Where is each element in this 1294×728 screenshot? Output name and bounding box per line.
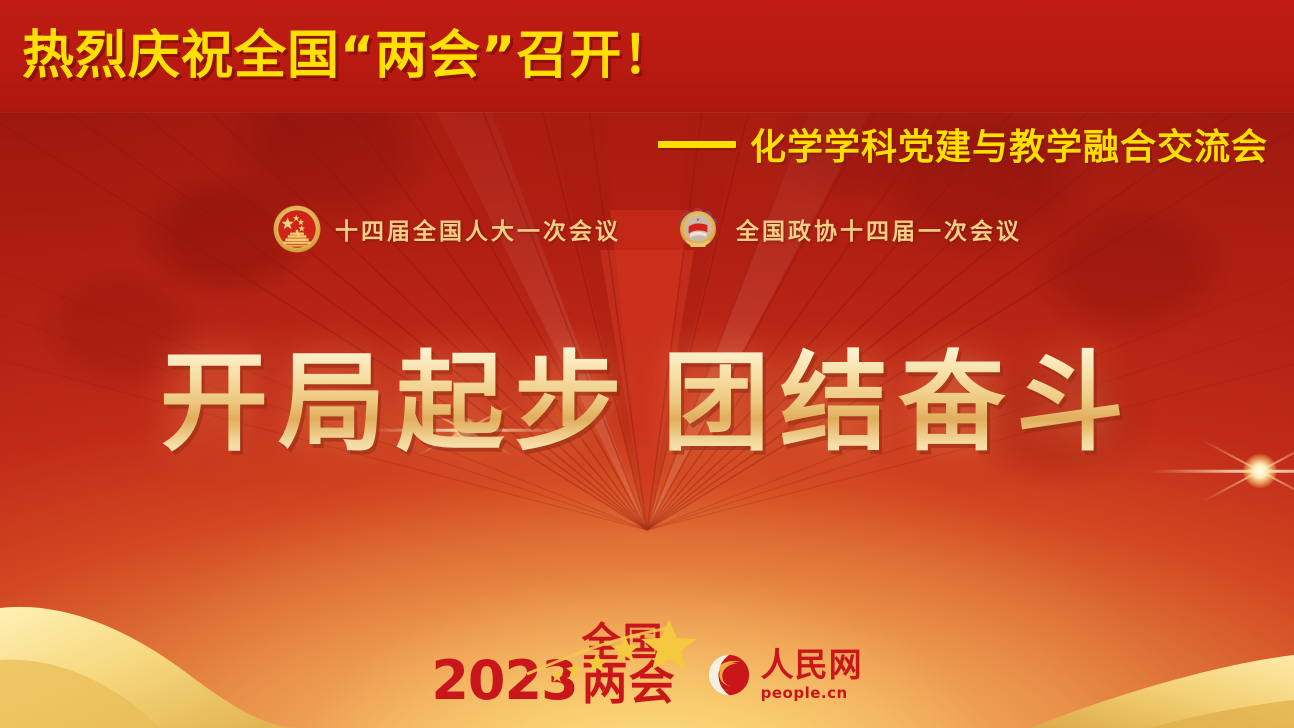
emblem-label-cppcc: 全国政协十四届一次会议 bbox=[736, 212, 1022, 246]
emblem-item-cppcc: ★ 全国政协十四届一次会议 bbox=[673, 204, 1022, 254]
subtitle-dash-icon bbox=[658, 141, 736, 148]
top-banner: 热烈庆祝全国“两会”召开！ bbox=[0, 0, 1294, 112]
logo-chinese: 全国 两会 bbox=[582, 624, 676, 706]
page-title: 热烈庆祝全国“两会”召开！ bbox=[22, 30, 675, 82]
people-cn-mark-icon bbox=[706, 652, 752, 698]
people-cn-text: 人民网 bbox=[761, 648, 863, 681]
people-cn-domain: people.cn bbox=[761, 684, 848, 702]
emblem-row: 十四届全国人大一次会议 bbox=[0, 204, 1294, 254]
slogan-right: 团结奋斗 bbox=[662, 341, 1134, 466]
logo-cn-bottom: 两会 bbox=[582, 662, 676, 706]
slogan-left: 开局起步 bbox=[160, 341, 632, 466]
main-slogan: 开局起步团结奋斗 bbox=[0, 344, 1294, 465]
emblem-label-npc: 十四届全国人大一次会议 bbox=[335, 212, 621, 246]
cppcc-emblem-icon: ★ bbox=[673, 204, 723, 254]
emblem-item-npc: 十四届全国人大一次会议 bbox=[272, 204, 621, 254]
subtitle-row: 化学学科党建与教学融合交流会 bbox=[658, 118, 1268, 170]
two-sessions-logo: 2023 全国 两会 bbox=[431, 624, 675, 706]
people-cn-logo: 人民网 people.cn bbox=[706, 648, 863, 702]
two-sessions-poster: 热烈庆祝全国“两会”召开！ 化学学科党建与教学融合交流会 bbox=[0, 0, 1294, 728]
national-emblem-icon bbox=[272, 204, 322, 254]
people-cn-wordmark: 人民网 people.cn bbox=[761, 648, 863, 702]
subtitle-text: 化学学科党建与教学融合交流会 bbox=[750, 118, 1268, 170]
logo-year: 2023 bbox=[431, 656, 577, 706]
bottom-logo-group: 2023 全国 两会 bbox=[0, 624, 1294, 706]
svg-text:★: ★ bbox=[696, 217, 700, 223]
